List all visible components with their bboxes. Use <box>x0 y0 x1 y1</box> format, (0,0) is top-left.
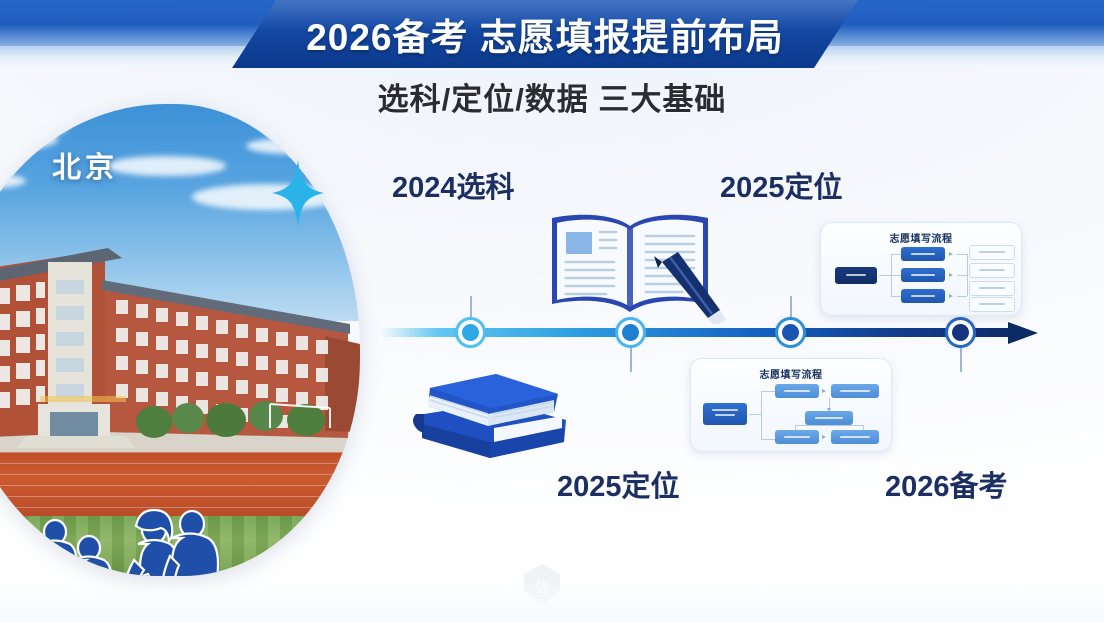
flow-connector <box>795 425 829 426</box>
open-book-with-pen-icon <box>530 206 730 324</box>
cloud-shape <box>106 156 226 176</box>
flow-card-lower-title: 志愿填写流程 <box>691 366 891 381</box>
timeline-stem <box>630 344 632 372</box>
flow-node-batch-2 <box>901 268 945 282</box>
flow-connector <box>957 296 967 297</box>
flow-node-batch-3 <box>901 289 945 303</box>
flow-node-step-3 <box>805 411 853 425</box>
flow-arrow <box>822 389 826 393</box>
flow-arrow <box>822 435 826 439</box>
timeline-stem <box>790 296 792 320</box>
timeline-node-4[interactable] <box>948 320 973 345</box>
flow-connector <box>891 254 901 255</box>
flow-card-lower[interactable]: 志愿填写流程 <box>690 358 892 452</box>
timeline-label-2024-xuanke: 2024选科 <box>392 164 515 206</box>
flow-arrow <box>949 252 953 256</box>
timeline-arrow-head <box>1008 322 1038 344</box>
flow-arrow <box>949 273 953 277</box>
flow-node-step-2 <box>831 384 879 398</box>
flow-connector <box>957 254 967 255</box>
flow-output-1 <box>969 245 1015 260</box>
flow-connector <box>761 391 762 439</box>
flow-connector <box>891 275 901 276</box>
slide-canvas: 2026备考 志愿填报提前布局 选科/定位/数据 三大基础 北京 <box>0 0 1104 622</box>
cloud-shape <box>246 138 336 154</box>
timeline-node-3[interactable] <box>778 320 803 345</box>
flow-output-3 <box>969 281 1015 296</box>
flow-connector <box>879 275 891 276</box>
flow-card-upper[interactable]: 志愿填写流程 <box>820 222 1022 316</box>
flow-connector <box>957 275 967 276</box>
flow-node-step-4 <box>775 430 819 444</box>
flow-connector <box>891 296 901 297</box>
timeline-stem <box>960 344 962 372</box>
flow-node-source <box>835 267 877 284</box>
page-title: 2026备考 志愿填报提前布局 <box>232 0 858 68</box>
flow-connector <box>761 439 775 440</box>
flow-connector <box>829 425 863 426</box>
sparkle-star-icon <box>272 160 324 226</box>
bottom-fade-overlay <box>0 580 1104 622</box>
stacked-books-icon <box>404 366 576 466</box>
city-label: 北京 <box>52 144 118 186</box>
student-silhouettes <box>14 486 244 576</box>
timeline-label-2025-dingwei-upper: 2025定位 <box>720 164 843 206</box>
timeline-node-1[interactable] <box>458 320 483 345</box>
flow-arrow <box>949 294 953 298</box>
flow-output-4 <box>969 297 1015 312</box>
flow-connector <box>761 391 775 392</box>
flow-card-upper-title: 志愿填写流程 <box>821 230 1021 245</box>
flow-output-2 <box>969 263 1015 278</box>
flow-entry-node <box>703 403 747 425</box>
timeline-stem <box>470 296 472 320</box>
timeline-label-2026-beikao: 2026备考 <box>885 463 1008 505</box>
timeline-label-2025-dingwei-lower: 2025定位 <box>557 463 680 505</box>
flow-node-batch-1 <box>901 247 945 261</box>
flow-connector <box>967 254 968 296</box>
flow-node-step-1 <box>775 384 819 398</box>
flow-connector <box>749 414 761 415</box>
school-building-illustration <box>0 232 360 482</box>
cloud-shape <box>8 118 68 136</box>
flow-node-step-5 <box>831 430 879 444</box>
